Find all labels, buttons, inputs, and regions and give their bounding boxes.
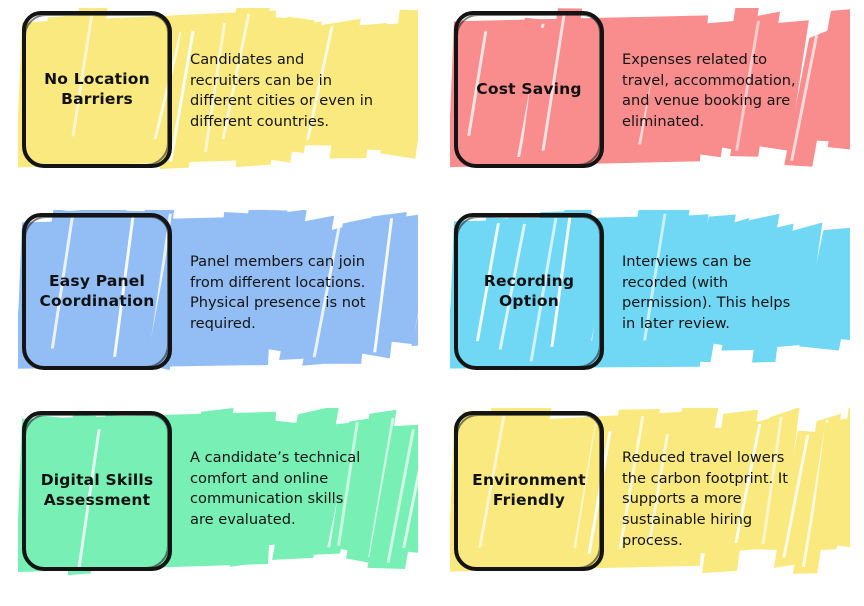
card-digital-skills-assessment: Digital Skills AssessmentA candidate’s t…	[0, 400, 432, 606]
card-description: A candidate’s technical comfort and onli…	[190, 448, 418, 531]
card-title: Digital Skills Assessment	[33, 471, 162, 511]
card-title-box: Easy Panel Coordination	[22, 213, 172, 370]
card-cost-saving: Cost SavingExpenses related to travel, a…	[432, 0, 864, 200]
card-title: Easy Panel Coordination	[31, 272, 162, 312]
card-description: Candidates and recruiters can be in diff…	[190, 50, 418, 133]
benefits-card-grid: No Location BarriersCandidates and recru…	[0, 0, 864, 606]
card-description: Interviews can be recorded (with permiss…	[622, 252, 850, 335]
card-title-box: Recording Option	[454, 213, 604, 370]
card-title: No Location Barriers	[36, 70, 158, 110]
card-description: Reduced travel lowers the carbon footpri…	[622, 448, 850, 552]
card-easy-panel-coordination: Easy Panel CoordinationPanel members can…	[0, 200, 432, 400]
card-title-box: Digital Skills Assessment	[22, 411, 172, 571]
card-title-box: Cost Saving	[454, 11, 604, 168]
card-title: Recording Option	[476, 272, 582, 312]
card-recording-option: Recording OptionInterviews can be record…	[432, 200, 864, 400]
card-title-box: No Location Barriers	[22, 11, 172, 168]
card-title: Environment Friendly	[464, 471, 594, 511]
card-environment-friendly: Environment FriendlyReduced travel lower…	[432, 400, 864, 606]
card-title: Cost Saving	[468, 80, 589, 100]
card-title-box: Environment Friendly	[454, 411, 604, 571]
card-no-location-barriers: No Location BarriersCandidates and recru…	[0, 0, 432, 200]
card-description: Expenses related to travel, accommodatio…	[622, 50, 850, 133]
card-description: Panel members can join from different lo…	[190, 252, 418, 335]
